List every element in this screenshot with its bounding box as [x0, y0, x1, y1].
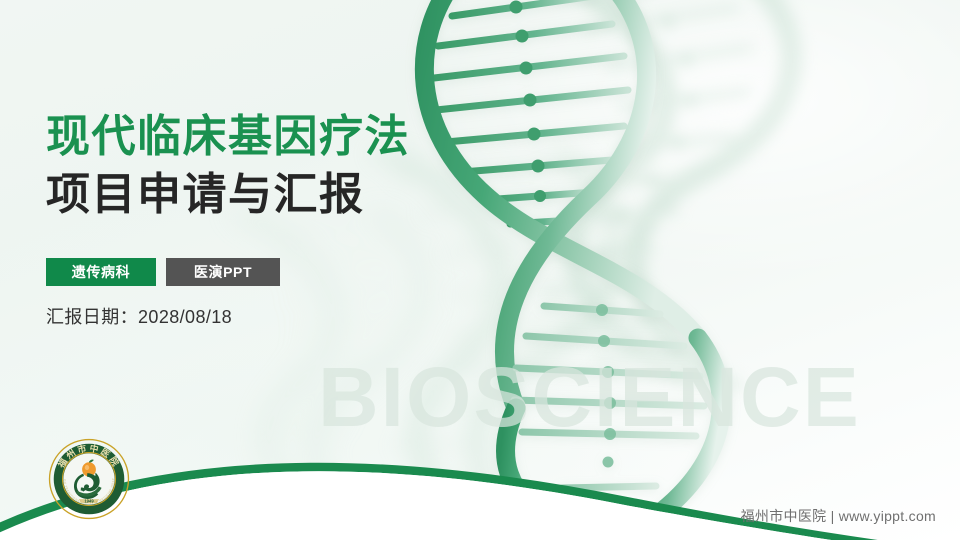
presentation-title-slide: BIOSCIENCE 现代临床基因疗法 项目申请与汇报 遗传病科 医演PPT 汇…: [0, 0, 960, 540]
slide-title: 现代临床基因疗法 项目申请与汇报: [46, 108, 566, 224]
badge-department[interactable]: 遗传病科: [46, 258, 156, 286]
hospital-logo: 福州市中医院 FUZHOU TRADITIONAL CHINESE MEDICI…: [47, 437, 131, 521]
title-line-1: 现代临床基因疗法: [46, 108, 566, 166]
footer-credit: 福州市中医院 | www.yippt.com: [741, 506, 936, 526]
badge-row: 遗传病科 医演PPT: [46, 258, 280, 286]
badge-brand[interactable]: 医演PPT: [166, 258, 280, 286]
logo-year: 1949: [79, 499, 99, 504]
report-date: 汇报日期：2028/08/18: [46, 303, 232, 329]
title-line-2: 项目申请与汇报: [46, 166, 566, 224]
svg-text:1949: 1949: [84, 499, 94, 504]
